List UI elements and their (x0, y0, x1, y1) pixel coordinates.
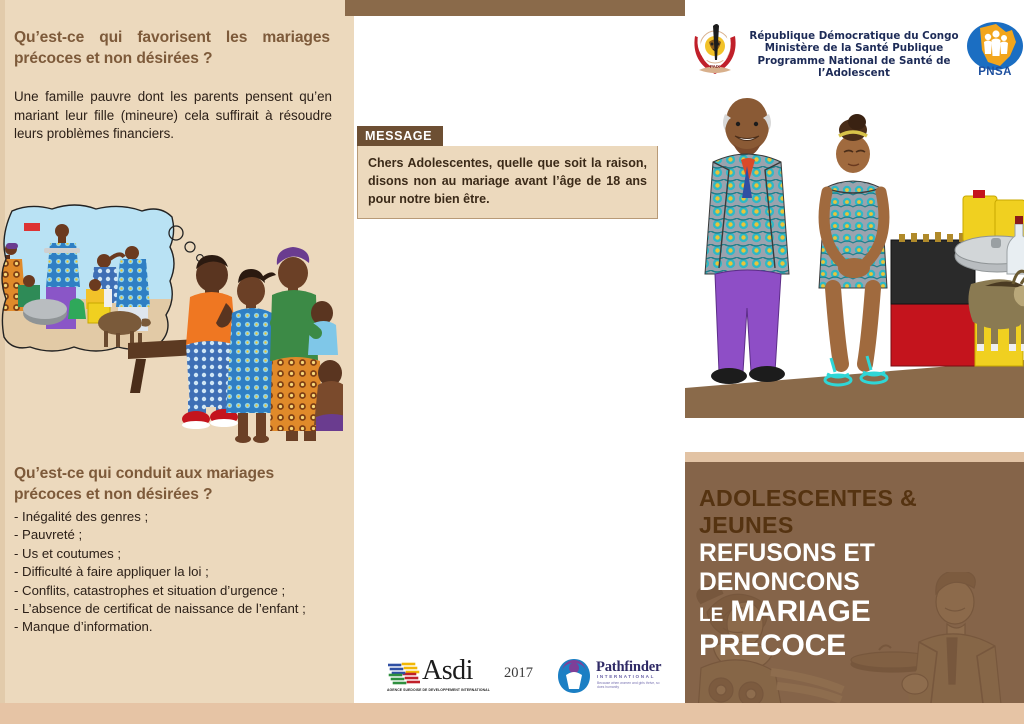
title-top-accent (685, 452, 1024, 462)
year-label: 2017 (504, 665, 533, 682)
ministry-line-3: Programme National de Santé de l’Adolesc… (743, 55, 965, 80)
middle-panel-left-strip (343, 0, 354, 703)
asdi-tagline: AGENCE SUEDOISE DE DEVELOPPEMENT INTERNA… (387, 688, 507, 693)
coat-of-arms-icon: PAIX (685, 18, 747, 84)
family-thought-bubble-illustration (0, 203, 343, 451)
ministry-title-lines: République Démocratique du Congo Ministè… (743, 30, 965, 79)
ministry-line-2: Ministère de la Santé Publique (743, 42, 965, 54)
list-item: - Manque d’information. (14, 618, 334, 636)
message-tab-label: MESSAGE (357, 126, 443, 146)
ministry-line-1: République Démocratique du Congo (743, 30, 965, 42)
asdi-logo: Asdi AGENCE SUEDOISE DE DEVELOPPEMENT IN… (386, 657, 506, 699)
list-item: - L’absence de certificat de naissance d… (14, 600, 334, 618)
pathfinder-mark-icon (556, 657, 592, 695)
pnsa-label: PNSA (966, 66, 1024, 78)
title-line-3-main: MARIAGE PRECOCE (699, 595, 871, 662)
list-item: - Pauvreté ; (14, 526, 334, 544)
svg-text:PAIX: PAIX (710, 64, 720, 69)
message-text: Chers Adolescentes, quelle que soit la r… (357, 146, 658, 219)
list-item: - Inégalité des genres ; (14, 508, 334, 526)
title-line-3-prefix: LE (699, 605, 723, 626)
ministry-header: PAIX République Démocratique du Congo Mi… (685, 16, 1024, 88)
question-1-heading: Qu’est-ce qui favorisent les mariages pr… (14, 27, 330, 69)
asdi-mark-icon (388, 661, 420, 687)
question-2-list: - Inégalité des genres ; - Pauvreté ; - … (14, 508, 334, 637)
list-item: - Difficulté à faire appliquer la loi ; (14, 563, 334, 581)
asdi-wordmark: Asdi (422, 655, 473, 687)
pathfinder-tagline: Because when women and girls thrive, so … (597, 681, 661, 690)
list-item: - Conflits, catastrophes et situation d’… (14, 582, 334, 600)
middle-panel (343, 0, 685, 703)
left-panel: Qu’est-ce qui favorisent les mariages pr… (0, 0, 343, 703)
title-line-3: LE MARIAGE PRECOCE (699, 597, 1011, 662)
title-line-1: ADOLESCENTES & JEUNES (699, 485, 1011, 539)
pathfinder-subtitle: INTERNATIONAL (597, 674, 655, 679)
title-line-2: REFUSONS ET DENONCONS (699, 539, 1011, 597)
campaign-title: ADOLESCENTES & JEUNES REFUSONS ET DENONC… (699, 485, 1011, 662)
question-1-body: Une famille pauvre dont les parents pens… (14, 88, 332, 144)
pathfinder-logo: Pathfinder INTERNATIONAL Because when wo… (556, 657, 661, 697)
older-man-and-young-girl-illustration (685, 88, 1024, 418)
footer-logos: Asdi AGENCE SUEDOISE DE DEVELOPPEMENT IN… (386, 655, 658, 700)
message-box: MESSAGE Chers Adolescentes, quelle que s… (357, 126, 658, 219)
list-item: - Us et coutumes ; (14, 545, 334, 563)
right-panel: PAIX République Démocratique du Congo Mi… (685, 0, 1024, 703)
bottom-band (0, 703, 1024, 724)
title-block: ADOLESCENTES & JEUNES REFUSONS ET DENONC… (685, 452, 1024, 703)
question-2-heading: Qu’est-ce qui conduit aux mariages préco… (14, 463, 330, 505)
brochure-page: Qu’est-ce qui favorisent les mariages pr… (0, 0, 1024, 724)
